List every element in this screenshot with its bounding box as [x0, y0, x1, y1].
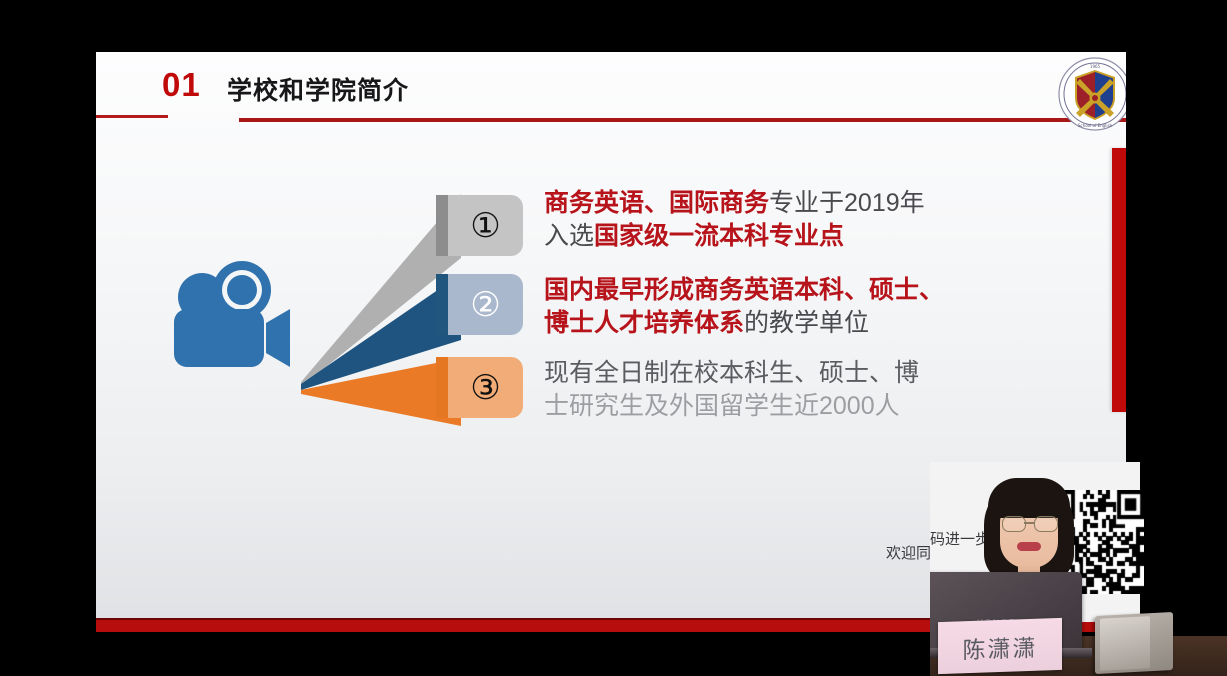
item-badge-3: ③ — [448, 357, 523, 418]
section-number: 01 — [162, 66, 201, 104]
item-1-gray-a: 专业于2019年 — [769, 189, 925, 217]
item-text-2-line-2: 博士人才培养体系的教学单位 — [544, 307, 944, 340]
item-text-3-line-1: 现有全日制在校本科生、硕士、博 — [544, 357, 919, 390]
header-rule-left — [96, 115, 168, 118]
movie-camera-icon — [166, 257, 292, 375]
item-text-1-line-1: 商务英语、国际商务专业于2019年 — [544, 187, 925, 220]
badge-number-3: ③ — [448, 357, 523, 418]
item-text-2: 国内最早形成商务英语本科、硕士、 博士人才培养体系的教学单位 — [544, 274, 944, 340]
item-1-gray-b: 入选 — [544, 222, 594, 250]
name-placard: 陈潇潇 — [938, 618, 1062, 674]
presenter-head — [984, 480, 1074, 584]
svg-text:School of English: School of English — [1078, 123, 1113, 128]
right-accent-bar — [1112, 148, 1126, 412]
university-crest-logo: 1965 School of English — [1058, 57, 1126, 131]
presenter-name: 陈潇潇 — [938, 628, 1062, 666]
item-1-red-b: 国家级一流本科专业点 — [594, 222, 844, 250]
screen: 01 学校和学院简介 1965 School of English — [0, 0, 1227, 676]
item-text-3: 现有全日制在校本科生、硕士、博 士研究生及外国留学生近2000人 — [544, 357, 919, 423]
svg-text:1965: 1965 — [1090, 64, 1101, 69]
background-dark-area — [1140, 462, 1227, 622]
glasses-icon — [1002, 516, 1056, 530]
badge-number-1: ① — [448, 195, 523, 256]
hair-top — [988, 478, 1070, 518]
item-text-3-line-2: 士研究生及外国留学生近2000人 — [544, 390, 919, 423]
item-text-1: 商务英语、国际商务专业于2019年 入选国家级一流本科专业点 — [544, 187, 925, 253]
item-2-gray-b: 的教学单位 — [744, 309, 869, 337]
item-1-red-a: 商务英语、国际商务 — [544, 189, 769, 217]
header-rule-long — [239, 118, 1126, 122]
item-text-2-line-1: 国内最早形成商务英语本科、硕士、 — [544, 274, 944, 307]
presenter-video-overlay: 码进一步 HONOR 陈潇潇 — [930, 462, 1227, 676]
item-2-red-b: 博士人才培养体系 — [544, 309, 744, 337]
item-badge-1: ① — [448, 195, 523, 256]
mouth — [1017, 542, 1041, 551]
item-2-red-a: 国内最早形成商务英语本科、硕士、 — [544, 276, 944, 304]
page-title: 学校和学院简介 — [227, 71, 409, 107]
item-text-1-line-2: 入选国家级一流本科专业点 — [544, 220, 925, 253]
item-badge-2: ② — [448, 274, 523, 335]
tablet-device — [1095, 612, 1173, 674]
badge-number-2: ② — [448, 274, 523, 335]
